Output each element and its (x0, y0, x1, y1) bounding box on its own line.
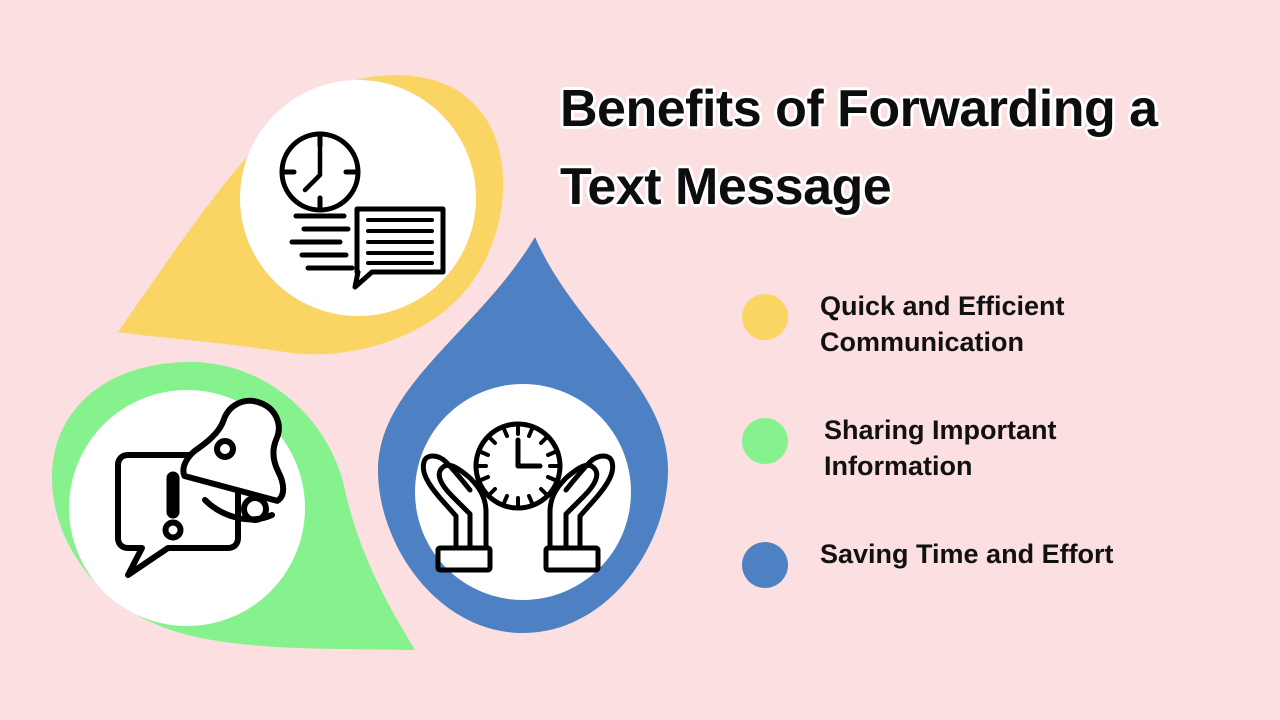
legend-label-sharing-information: Sharing Important Information (824, 412, 1134, 484)
legend-item-sharing-information[interactable]: Sharing Important Information (742, 412, 1162, 484)
green-bullet (742, 418, 788, 464)
legend-item-saving-time[interactable]: Saving Time and Effort (742, 536, 1162, 588)
yellow-bullet (742, 294, 788, 340)
title-line-2: Text Message (560, 148, 1260, 226)
blue-bullet (742, 542, 788, 588)
page-title: Benefits of Forwarding a Text Message (560, 70, 1260, 226)
title-line-1: Benefits of Forwarding a (560, 70, 1260, 148)
legend-label-saving-time: Saving Time and Effort (820, 536, 1114, 572)
legend-label-quick-efficient: Quick and Efficient Communication (820, 288, 1130, 360)
legend-item-quick-efficient[interactable]: Quick and Efficient Communication (742, 288, 1162, 360)
legend-list: Quick and Efficient Communication Sharin… (742, 288, 1162, 640)
